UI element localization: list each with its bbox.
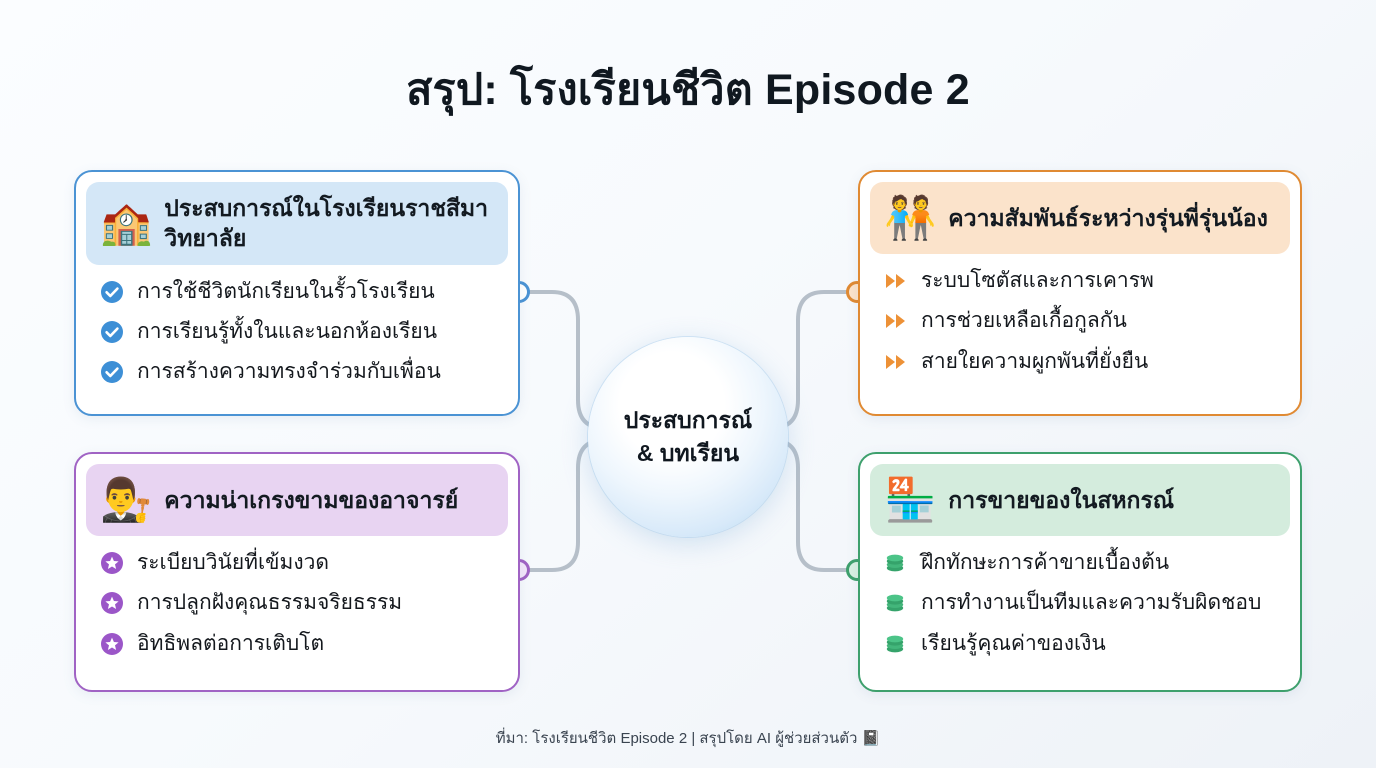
infographic-canvas: สรุป: โรงเรียนชีวิต Episode 2 ประสบการณ์… xyxy=(0,0,1376,768)
list-item: อิทธิพลต่อการเติบโต xyxy=(100,631,502,657)
double-arrow-icon xyxy=(884,309,908,333)
bullet-list: ระบบโซตัสและการเคารพ การช่วยเหลือเกื้อกู… xyxy=(870,254,1290,375)
card-header: 🏪 การขายของในสหกรณ์ xyxy=(870,464,1290,536)
school-icon: 🏫 xyxy=(100,202,152,244)
wire-top-right xyxy=(772,292,856,428)
double-arrow-icon xyxy=(884,350,908,374)
double-arrow-icon xyxy=(884,269,908,293)
card-title: ความน่าเกรงขามของอาจารย์ xyxy=(164,485,458,515)
list-item: การปลูกฝังคุณธรรมจริยธรรม xyxy=(100,590,502,616)
card-school-experience[interactable]: 🏫 ประสบการณ์ในโรงเรียนราชสีมาวิทยาลัย กา… xyxy=(74,170,520,416)
list-item: เรียนรู้คุณค่าของเงิน xyxy=(884,631,1284,657)
hub-line-1: ประสบการณ์ xyxy=(624,404,752,437)
card-header: 👨‍⚖️ ความน่าเกรงขามของอาจารย์ xyxy=(86,464,508,536)
list-item: การใช้ชีวิตนักเรียนในรั้วโรงเรียน xyxy=(100,279,502,305)
check-circle-icon xyxy=(100,360,124,384)
mentorship-icon: 🧑‍🤝‍🧑 xyxy=(884,197,936,239)
list-item: การเรียนรู้ทั้งในและนอกห้องเรียน xyxy=(100,319,502,345)
list-item-label: เรียนรู้คุณค่าของเงิน xyxy=(921,631,1106,657)
star-circle-icon xyxy=(100,551,124,575)
bullet-list: ระเบียบวินัยที่เข้มงวด การปลูกฝังคุณธรรม… xyxy=(86,536,508,657)
list-item: การช่วยเหลือเกื้อกูลกัน xyxy=(884,308,1284,334)
list-item-label: สายใยความผูกพันที่ยั่งยืน xyxy=(921,349,1148,375)
card-teacher-authority[interactable]: 👨‍⚖️ ความน่าเกรงขามของอาจารย์ ระเบียบวิน… xyxy=(74,452,520,692)
list-item: ระเบียบวินัยที่เข้มงวด xyxy=(100,550,502,576)
footer-source: ที่มา: โรงเรียนชีวิต Episode 2 | สรุปโดย… xyxy=(0,726,1376,750)
list-item-label: การใช้ชีวิตนักเรียนในรั้วโรงเรียน xyxy=(137,279,435,305)
center-hub: ประสบการณ์ & บทเรียน xyxy=(588,337,788,537)
check-circle-icon xyxy=(100,280,124,304)
bullet-list: ฝึกทักษะการค้าขายเบื้องต้น การทำงานเป็นท… xyxy=(870,536,1290,657)
bullet-list: การใช้ชีวิตนักเรียนในรั้วโรงเรียน การเรี… xyxy=(86,265,508,386)
star-circle-icon xyxy=(100,591,124,615)
hub-line-2: & บทเรียน xyxy=(637,437,739,470)
card-cooperative-store[interactable]: 🏪 การขายของในสหกรณ์ ฝึกทักษะการค้าขายเบื… xyxy=(858,452,1302,692)
list-item-label: การทำงานเป็นทีมและความรับผิดชอบ xyxy=(921,590,1261,616)
shop-stall-icon: 🏪 xyxy=(884,479,936,521)
card-title: ความสัมพันธ์ระหว่างรุ่นพี่รุ่นน้อง xyxy=(948,203,1268,233)
coin-stack-icon xyxy=(884,632,908,656)
list-item-label: ระเบียบวินัยที่เข้มงวด xyxy=(137,550,329,576)
card-senior-junior-relationship[interactable]: 🧑‍🤝‍🧑 ความสัมพันธ์ระหว่างรุ่นพี่รุ่นน้อง… xyxy=(858,170,1302,416)
list-item-label: การเรียนรู้ทั้งในและนอกห้องเรียน xyxy=(137,319,437,345)
list-item: ระบบโซตัสและการเคารพ xyxy=(884,268,1284,294)
list-item-label: การสร้างความทรงจำร่วมกับเพื่อน xyxy=(137,359,441,385)
card-header: 🧑‍🤝‍🧑 ความสัมพันธ์ระหว่างรุ่นพี่รุ่นน้อง xyxy=(870,182,1290,254)
check-circle-icon xyxy=(100,320,124,344)
list-item: ฝึกทักษะการค้าขายเบื้องต้น xyxy=(884,550,1284,576)
list-item: สายใยความผูกพันที่ยั่งยืน xyxy=(884,349,1284,375)
list-item-label: การช่วยเหลือเกื้อกูลกัน xyxy=(921,308,1127,334)
list-item-label: การปลูกฝังคุณธรรมจริยธรรม xyxy=(137,590,402,616)
judge-icon: 👨‍⚖️ xyxy=(100,479,152,521)
list-item-label: ฝึกทักษะการค้าขายเบื้องต้น xyxy=(921,550,1169,576)
list-item: การทำงานเป็นทีมและความรับผิดชอบ xyxy=(884,590,1284,616)
list-item: การสร้างความทรงจำร่วมกับเพื่อน xyxy=(100,359,502,385)
card-title: การขายของในสหกรณ์ xyxy=(948,485,1174,515)
list-item-label: ระบบโซตัสและการเคารพ xyxy=(921,268,1154,294)
card-title: ประสบการณ์ในโรงเรียนราชสีมาวิทยาลัย xyxy=(164,193,502,254)
card-header: 🏫 ประสบการณ์ในโรงเรียนราชสีมาวิทยาลัย xyxy=(86,182,508,265)
coin-stack-icon xyxy=(884,551,908,575)
star-circle-icon xyxy=(100,632,124,656)
coin-stack-icon xyxy=(884,591,908,615)
list-item-label: อิทธิพลต่อการเติบโต xyxy=(137,631,324,657)
